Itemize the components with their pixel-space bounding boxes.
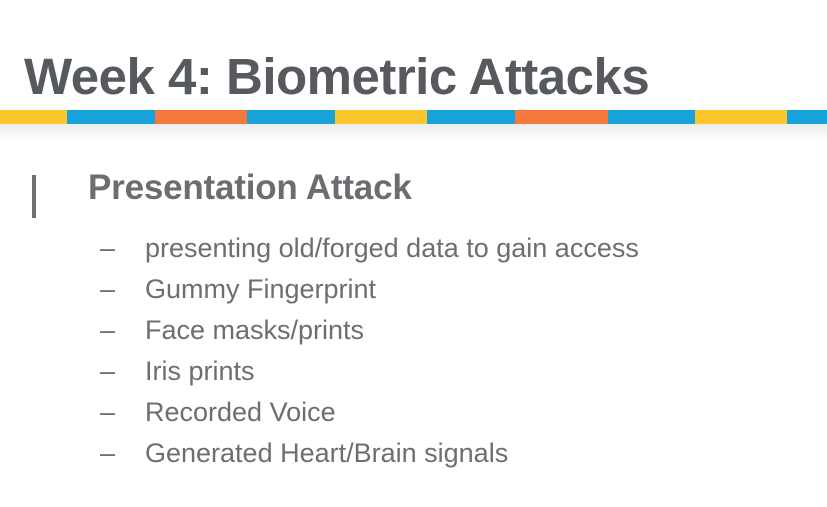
list-item: –Face masks/prints: [0, 310, 827, 351]
dash-bullet-icon: –: [100, 310, 116, 351]
divider-shadow: [0, 124, 827, 140]
color-divider-bar: [0, 110, 827, 124]
color-bar-segment-blue: [787, 110, 827, 124]
list-item: –presenting old/forged data to gain acce…: [0, 228, 827, 269]
list-item: –Iris prints: [0, 351, 827, 392]
list-item-label: presenting old/forged data to gain acces…: [145, 233, 639, 263]
color-bar-segment-orange: [155, 110, 247, 124]
dash-bullet-icon: –: [100, 351, 116, 392]
color-bar-segment-blue: [67, 110, 155, 124]
color-bar-segment-yellow: [0, 110, 67, 124]
dash-bullet-icon: –: [100, 392, 116, 433]
bullet-list: –presenting old/forged data to gain acce…: [0, 228, 827, 474]
dash-bullet-icon: –: [100, 269, 116, 310]
list-item-label: Face masks/prints: [145, 315, 364, 345]
presentation-slide: Week 4: Biometric Attacks Presentation A…: [0, 0, 827, 507]
page-title: Week 4: Biometric Attacks: [24, 45, 804, 111]
vertical-bar-icon: [32, 175, 36, 218]
color-bar-segment-orange: [515, 110, 608, 124]
list-item: –Gummy Fingerprint: [0, 269, 827, 310]
color-bar-segment-blue: [608, 110, 695, 124]
list-item-label: Generated Heart/Brain signals: [145, 438, 508, 468]
slide-body: Presentation Attack –presenting old/forg…: [0, 160, 827, 214]
color-bar-segment-yellow: [695, 110, 787, 124]
list-item: –Generated Heart/Brain signals: [0, 433, 827, 474]
section-heading: Presentation Attack: [88, 168, 412, 208]
section-heading-row: Presentation Attack: [0, 160, 827, 214]
list-item-label: Gummy Fingerprint: [145, 274, 376, 304]
list-item-label: Recorded Voice: [145, 397, 336, 427]
color-bar-segment-blue: [247, 110, 335, 124]
color-bar-segment-blue: [427, 110, 515, 124]
color-bar-segment-yellow: [335, 110, 427, 124]
dash-bullet-icon: –: [100, 228, 116, 269]
dash-bullet-icon: –: [100, 433, 116, 474]
list-item-label: Iris prints: [145, 356, 255, 386]
list-item: –Recorded Voice: [0, 392, 827, 433]
